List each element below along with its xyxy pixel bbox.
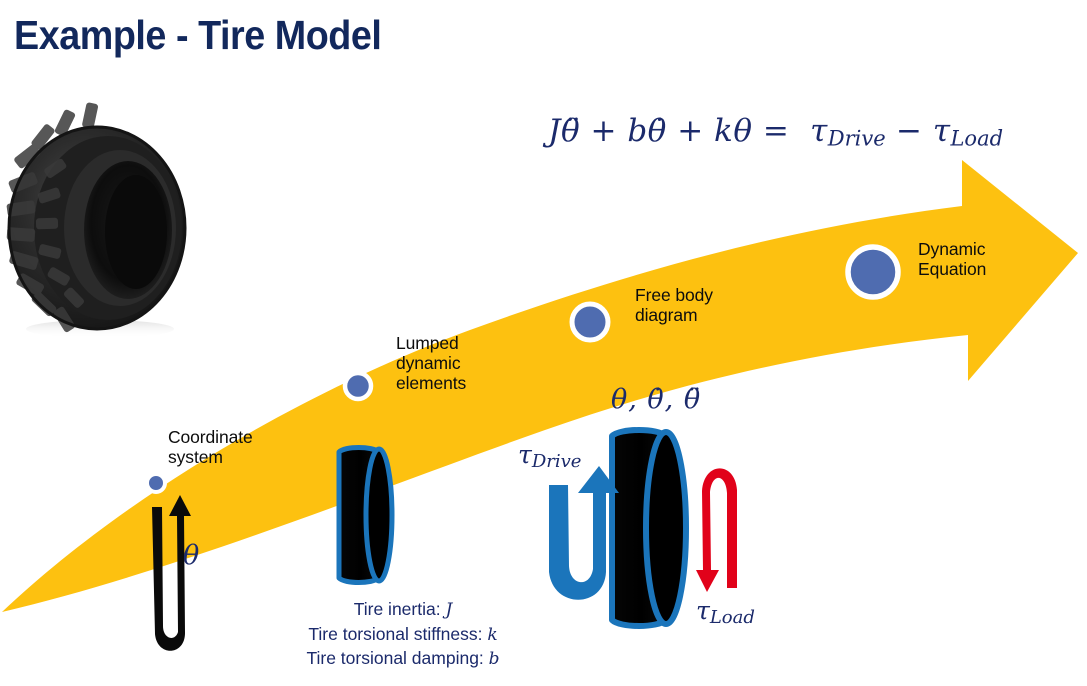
param-label-inertia: Tire inertia: bbox=[354, 599, 446, 619]
tau-load-arrow bbox=[696, 468, 737, 592]
param-row-damping: Tire torsional damping: b bbox=[258, 647, 548, 672]
tau-load-subscript: Load bbox=[710, 607, 755, 628]
equation-tau-drive: τ bbox=[810, 113, 828, 149]
milestone-dot-dynamic-equation[interactable] bbox=[848, 247, 898, 297]
lumped-tire-cylinder bbox=[339, 448, 392, 583]
milestone-dot-free-body-diagram[interactable] bbox=[572, 304, 608, 340]
equation-plus-1: + bbox=[590, 113, 616, 149]
equation-stiffness-symbol: k bbox=[714, 113, 733, 149]
slide-canvas: Example - Tire Model bbox=[0, 0, 1087, 686]
milestone-label-lumped-elements: Lumped dynamic elements bbox=[396, 333, 466, 393]
milestone-label-dynamic-equation: Dynamic Equation bbox=[918, 239, 986, 279]
param-row-inertia: Tire inertia: J bbox=[258, 598, 548, 623]
param-symbol-damping: b bbox=[489, 649, 500, 669]
fbd-tire-cylinder bbox=[612, 430, 686, 626]
param-label-stiffness: Tire torsional stiffness: bbox=[308, 624, 487, 644]
tau-drive-subscript: Drive bbox=[532, 451, 582, 472]
milestone-label-coordinate-system: Coordinate system bbox=[168, 427, 253, 467]
slide-artwork bbox=[0, 0, 1087, 686]
equation-damping-symbol: b bbox=[627, 113, 647, 149]
tau-load-symbol: τ bbox=[696, 596, 710, 625]
equation-equals-sign: = bbox=[763, 113, 789, 149]
milestone-dot-coordinate-system[interactable] bbox=[147, 474, 165, 492]
param-label-damping: Tire torsional damping: bbox=[306, 648, 488, 668]
tau-load-label: τLoad bbox=[696, 596, 755, 628]
equation-minus-sign: − bbox=[896, 113, 922, 149]
param-symbol-inertia: J bbox=[445, 600, 452, 620]
param-symbol-stiffness: k bbox=[487, 625, 497, 645]
tau-drive-label: τDrive bbox=[518, 440, 581, 472]
coordinate-theta-label: θ bbox=[183, 540, 199, 571]
equation-tau-load: τ bbox=[933, 113, 951, 149]
equation-theta-dot: θ̇ bbox=[648, 113, 667, 149]
equation-tau-drive-subscript: Drive bbox=[828, 127, 886, 151]
milestone-label-free-body-diagram: Free body diagram bbox=[635, 285, 713, 325]
equation-theta: θ bbox=[733, 113, 752, 149]
milestone-dot-lumped-elements[interactable] bbox=[345, 373, 371, 399]
equation-inertia-symbol: J bbox=[548, 113, 561, 149]
equation-tau-load-subscript: Load bbox=[950, 127, 1003, 151]
dynamic-equation-formula: Jθ̈ + bθ̇ + kθ = τDrive − τLoad bbox=[548, 113, 1003, 151]
tire-photo bbox=[6, 102, 185, 338]
equation-plus-2: + bbox=[677, 113, 703, 149]
tau-drive-arrow bbox=[549, 466, 619, 600]
fbd-state-variables-label: θ, θ̇, θ̈ bbox=[611, 384, 701, 415]
equation-theta-ddot: θ̈ bbox=[561, 113, 580, 149]
tire-parameter-list: Tire inertia: J Tire torsional stiffness… bbox=[258, 598, 548, 672]
tau-drive-symbol: τ bbox=[518, 440, 532, 469]
param-row-stiffness: Tire torsional stiffness: k bbox=[258, 623, 548, 648]
